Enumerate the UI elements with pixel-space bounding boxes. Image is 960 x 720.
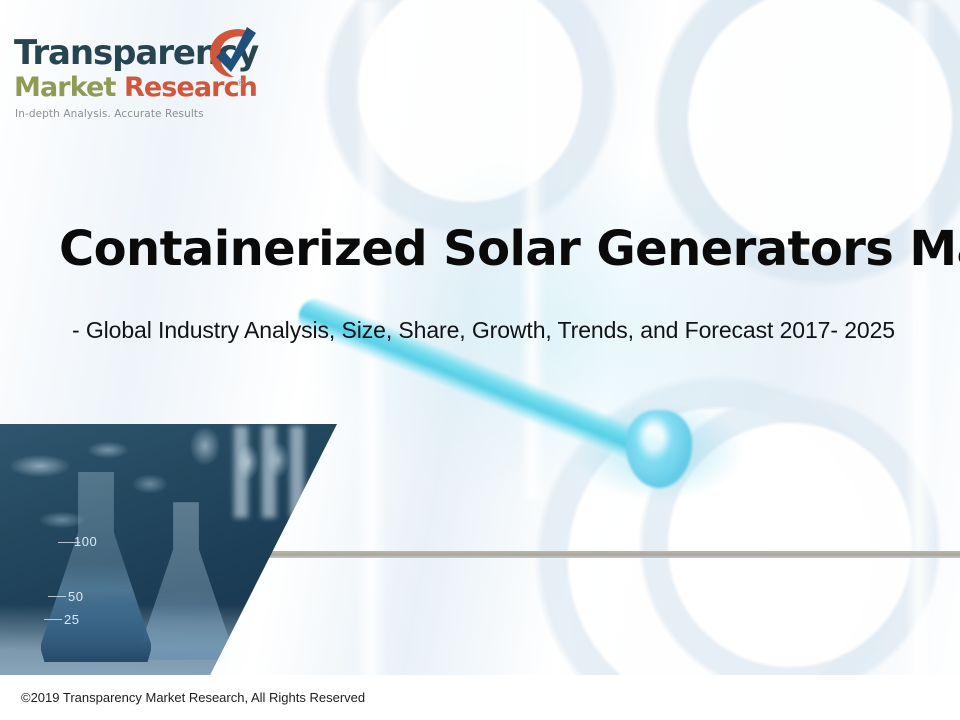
flask-marking-100: 100 [74,534,97,549]
logo-checkmark-swoosh-icon [198,24,260,86]
pipette-droplet-icon [626,410,692,488]
copyright-text: ©2019 Transparency Market Research, All … [21,690,365,705]
page-subtitle: - Global Industry Analysis, Size, Share,… [72,317,952,345]
company-logo[interactable]: Transparency Market Research In-depth An… [12,24,272,128]
flask-marking-25: 25 [64,612,79,627]
page-title: Containerized Solar Generators Market [59,224,919,274]
flask-graduation-tick [44,619,62,620]
presentation-slide: 100 50 25 Transparency Market Research I… [0,0,960,720]
glass-streak [905,0,935,720]
secondary-flask-icon [140,502,232,660]
flask-graduation-tick [48,596,66,597]
logo-tagline-text: In-depth Analysis. Accurate Results [15,108,204,120]
logo-market-text: Market [14,72,115,103]
horizontal-divider [263,551,960,558]
flask-marking-50: 50 [68,589,83,604]
registered-trademark-symbol: ® [236,79,245,89]
logo-word-space [115,72,124,103]
erlenmeyer-flask-icon [40,472,152,662]
